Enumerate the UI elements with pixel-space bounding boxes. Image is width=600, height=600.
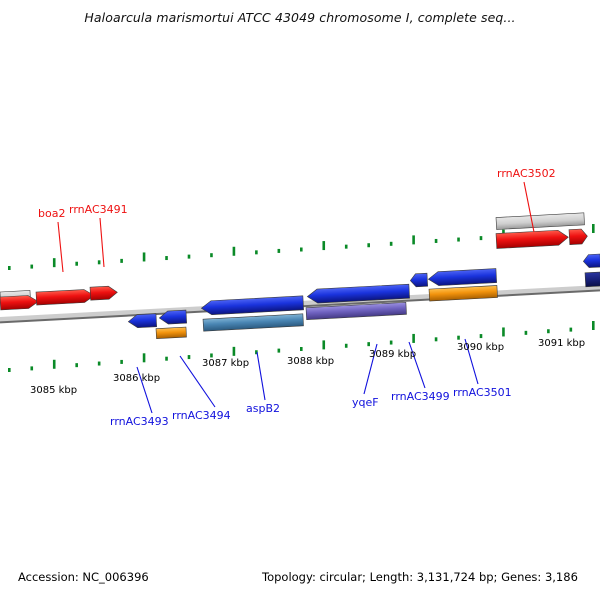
feature-label-rrnAC3494[interactable]: rrnAC3494 xyxy=(172,409,231,422)
ruler-tick-label: 3088 kbp xyxy=(287,356,334,367)
sequence-tick-mark xyxy=(570,328,573,332)
arrow-right-icon[interactable] xyxy=(569,229,588,245)
label-leader-line xyxy=(100,218,104,267)
arrow-right-icon[interactable] xyxy=(496,230,569,249)
sequence-tick-mark xyxy=(165,256,168,260)
feature-label-boa2[interactable]: boa2 xyxy=(38,207,65,220)
arrow-left-icon[interactable] xyxy=(428,269,497,287)
sequence-tick-mark xyxy=(30,265,33,269)
sequence-tick-mark xyxy=(345,245,348,249)
genome-sequence-viewer: Haloarcula marismortui ATCC 43049 chromo… xyxy=(0,0,600,600)
bottom-feature-labels[interactable]: rrnAC3493rrnAC3494aspB2yqeFrrnAC3499rrnA… xyxy=(110,386,512,428)
top-feature-labels[interactable]: boa2rrnAC3491rrnAC3502 xyxy=(38,167,556,220)
feature-blue-arrow-e[interactable] xyxy=(410,273,428,287)
feature-label-aspB2[interactable]: aspB2 xyxy=(246,402,280,415)
feature-bar[interactable] xyxy=(203,314,303,331)
sequence-tick-mark xyxy=(143,252,146,261)
sequence-tick-mark xyxy=(412,235,415,244)
label-leader-line xyxy=(257,352,265,400)
ruler-tick-label: 3091 kbp xyxy=(538,338,585,349)
sequence-tick-mark xyxy=(98,260,101,264)
sequence-tick-mark xyxy=(480,334,483,338)
sequence-tick-mark xyxy=(188,355,191,359)
sequence-tick-mark xyxy=(300,248,303,252)
feature-blue-arrow-g[interactable] xyxy=(583,254,600,268)
top-label-leaders xyxy=(58,182,534,272)
feature-orange-bar-1[interactable] xyxy=(156,327,186,339)
sequence-tick-mark xyxy=(592,321,595,330)
sequence-tick-mark xyxy=(457,238,460,242)
feature-gray-bar-right[interactable] xyxy=(496,213,585,230)
feature-bar[interactable] xyxy=(429,286,498,302)
arrow-left-icon[interactable] xyxy=(583,254,600,268)
feature-bar[interactable] xyxy=(156,327,186,339)
topology-label: Topology: circular; Length: 3,131,724 bp… xyxy=(262,570,578,584)
feature-bar[interactable] xyxy=(496,213,585,230)
ruler-tick-label: 3087 kbp xyxy=(202,358,249,369)
sequence-tick-mark xyxy=(480,236,483,240)
ruler-tick-label: 3090 kbp xyxy=(457,342,504,353)
label-leader-line xyxy=(58,222,63,272)
feature-label-yqeF[interactable]: yqeF xyxy=(352,396,379,409)
arrow-right-icon[interactable] xyxy=(0,295,39,310)
arrow-left-icon[interactable] xyxy=(201,296,304,315)
sequence-title: Haloarcula marismortui ATCC 43049 chromo… xyxy=(0,10,600,25)
feature-steel-bar-1[interactable] xyxy=(203,314,303,331)
sequence-tick-mark xyxy=(322,340,325,349)
feature-red-arrow-4[interactable] xyxy=(496,230,569,249)
feature-label-rrnAC3501[interactable]: rrnAC3501 xyxy=(453,386,512,399)
sequence-tick-mark xyxy=(435,239,438,243)
arrow-left-icon[interactable] xyxy=(410,273,428,287)
sequence-tick-mark xyxy=(412,334,415,343)
feature-red-arrow-2[interactable] xyxy=(36,289,95,305)
status-bar: Accession: NC_006396 Topology: circular;… xyxy=(0,570,600,600)
sequence-tick-mark xyxy=(30,366,33,370)
sequence-tick-mark xyxy=(322,241,325,250)
sequence-tick-mark xyxy=(233,247,236,256)
sequence-graphic-svg[interactable]: boa2rrnAC3491rrnAC3502 rrnAC3493rrnAC349… xyxy=(0,60,600,560)
sequence-tick-mark xyxy=(390,242,393,246)
accession-label: Accession: NC_006396 xyxy=(18,570,149,584)
sequence-tick-mark xyxy=(525,331,528,335)
sequence-tick-mark xyxy=(8,368,11,372)
sequence-tick-mark xyxy=(367,342,370,346)
sequence-tick-mark xyxy=(143,353,146,362)
sequence-tick-mark xyxy=(367,243,370,247)
sequence-tick-mark xyxy=(188,255,191,259)
sequence-tick-mark xyxy=(502,327,505,336)
sequence-tick-mark xyxy=(120,259,123,263)
sequence-tick-mark xyxy=(233,347,236,356)
feature-label-rrnAC3491[interactable]: rrnAC3491 xyxy=(69,203,128,216)
arrow-right-icon[interactable] xyxy=(90,286,118,300)
feature-label-rrnAC3502[interactable]: rrnAC3502 xyxy=(497,167,556,180)
sequence-tick-mark xyxy=(435,337,438,341)
sequence-tick-mark xyxy=(165,357,168,361)
sequence-tick-mark xyxy=(592,224,595,233)
sequence-graphic-panel[interactable]: boa2rrnAC3491rrnAC3502 rrnAC3493rrnAC349… xyxy=(0,60,600,560)
sequence-tick-mark xyxy=(75,363,78,367)
sequence-tick-mark xyxy=(98,362,101,366)
feature-navy-bar-1[interactable] xyxy=(585,272,600,287)
feature-bar[interactable] xyxy=(585,272,600,287)
sequence-tick-mark xyxy=(278,249,281,253)
ruler-tick-label: 3086 kbp xyxy=(113,373,160,384)
ruler-tick-label: 3089 kbp xyxy=(369,349,416,360)
feature-red-arrow-5[interactable] xyxy=(569,229,588,245)
feature-label-rrnAC3499[interactable]: rrnAC3499 xyxy=(391,390,450,403)
feature-orange-bar-2[interactable] xyxy=(429,286,498,302)
sequence-tick-mark xyxy=(75,262,78,266)
arrow-right-icon[interactable] xyxy=(36,289,95,305)
feature-label-rrnAC3493[interactable]: rrnAC3493 xyxy=(110,415,169,428)
feature-red-arrow-3[interactable] xyxy=(90,286,118,300)
sequence-tick-mark xyxy=(547,329,550,333)
sequence-tick-mark xyxy=(120,360,123,364)
feature-blue-arrow-c[interactable] xyxy=(201,296,304,315)
ruler-tick-label: 3085 kbp xyxy=(30,385,77,396)
sequence-tick-mark xyxy=(345,344,348,348)
sequence-tick-mark xyxy=(390,341,393,345)
features-below-axis[interactable] xyxy=(128,254,600,339)
sequence-tick-mark xyxy=(8,266,11,270)
sequence-tick-mark xyxy=(53,258,56,267)
sequence-tick-mark xyxy=(53,360,56,369)
feature-blue-arrow-f[interactable] xyxy=(428,269,497,287)
feature-red-arrow-1[interactable] xyxy=(0,295,39,310)
sequence-tick-mark xyxy=(300,347,303,351)
sequence-tick-mark xyxy=(278,349,281,353)
sequence-tick-mark xyxy=(457,336,460,340)
sequence-tick-mark xyxy=(210,253,213,257)
sequence-tick-mark xyxy=(255,250,258,254)
sequence-tick-mark xyxy=(210,353,213,357)
